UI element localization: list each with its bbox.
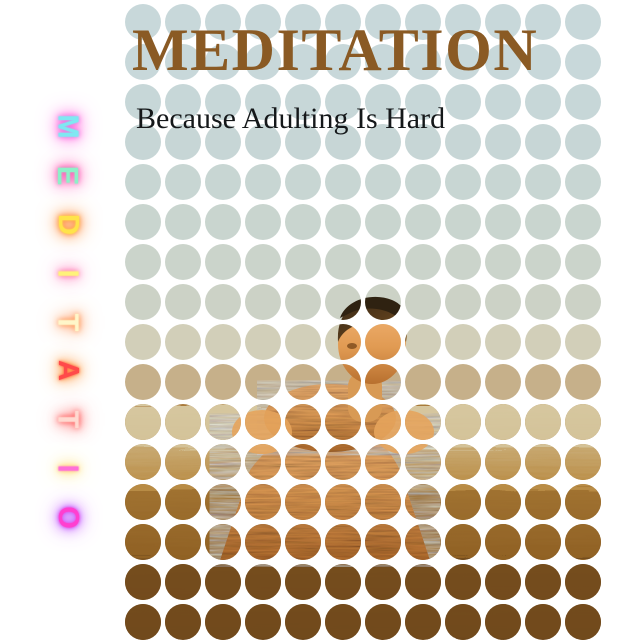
halftone-dot <box>125 564 161 600</box>
halftone-dot <box>485 404 521 440</box>
halftone-dot <box>405 364 441 400</box>
halftone-dot <box>285 204 321 240</box>
halftone-dot <box>365 564 401 600</box>
halftone-dot <box>525 404 561 440</box>
halftone-dot <box>285 324 321 360</box>
halftone-dot <box>245 244 281 280</box>
halftone-dot <box>125 404 161 440</box>
halftone-dot <box>205 484 241 520</box>
halftone-dot <box>405 444 441 480</box>
neon-letter-3: I <box>53 269 82 277</box>
halftone-dot <box>325 444 361 480</box>
halftone-dot <box>245 404 281 440</box>
neon-letter-2: D <box>52 214 81 235</box>
halftone-dot <box>565 244 601 280</box>
halftone-dot <box>365 484 401 520</box>
halftone-dot <box>365 324 401 360</box>
halftone-dot <box>165 404 201 440</box>
halftone-dot <box>245 364 281 400</box>
halftone-dot <box>565 364 601 400</box>
halftone-dot <box>525 244 561 280</box>
neon-letter-7: I <box>53 465 82 473</box>
page-title: MEDITATION <box>132 20 602 80</box>
halftone-dot <box>445 284 481 320</box>
neon-letter-0: M <box>52 114 81 138</box>
halftone-dot <box>525 524 561 560</box>
halftone-dot <box>285 524 321 560</box>
halftone-dot <box>325 364 361 400</box>
halftone-dot <box>565 604 601 640</box>
halftone-dot <box>445 324 481 360</box>
halftone-dot <box>325 604 361 640</box>
halftone-dot <box>365 164 401 200</box>
halftone-dot <box>165 564 201 600</box>
neon-letter-8: O <box>53 506 82 529</box>
halftone-dot <box>405 204 441 240</box>
halftone-dot <box>245 524 281 560</box>
halftone-dot <box>165 324 201 360</box>
halftone-dot <box>365 284 401 320</box>
halftone-dot <box>205 164 241 200</box>
halftone-dot <box>365 364 401 400</box>
halftone-dot <box>325 404 361 440</box>
halftone-dot <box>445 244 481 280</box>
halftone-dot <box>325 284 361 320</box>
halftone-dot <box>125 364 161 400</box>
halftone-dot <box>205 524 241 560</box>
halftone-dot <box>205 244 241 280</box>
halftone-dot <box>205 404 241 440</box>
halftone-dot <box>245 444 281 480</box>
halftone-dot <box>445 404 481 440</box>
halftone-dot <box>485 324 521 360</box>
halftone-dot <box>525 604 561 640</box>
halftone-dot <box>205 204 241 240</box>
halftone-dot <box>325 324 361 360</box>
halftone-dot <box>285 564 321 600</box>
halftone-dot <box>525 204 561 240</box>
halftone-dot <box>125 484 161 520</box>
halftone-dot <box>125 204 161 240</box>
neon-letter-5: A <box>52 360 81 381</box>
halftone-dot <box>525 484 561 520</box>
halftone-dot <box>245 324 281 360</box>
halftone-dot <box>525 284 561 320</box>
halftone-dot <box>245 284 281 320</box>
neon-letter-1: E <box>53 166 82 185</box>
halftone-dot <box>565 404 601 440</box>
halftone-dot <box>325 204 361 240</box>
halftone-dot <box>125 604 161 640</box>
page-subtitle: Because Adulting Is Hard <box>136 104 602 134</box>
halftone-dot <box>485 364 521 400</box>
halftone-dot <box>285 244 321 280</box>
halftone-dot <box>405 564 441 600</box>
halftone-dot <box>285 284 321 320</box>
halftone-dot <box>365 524 401 560</box>
halftone-dot <box>485 284 521 320</box>
halftone-dot <box>325 484 361 520</box>
halftone-dot <box>245 484 281 520</box>
neon-letter-4: T <box>53 313 82 331</box>
halftone-dot <box>485 564 521 600</box>
halftone-dot <box>165 284 201 320</box>
book-cover: MEDITATION Because Adulting Is Hard MEDI… <box>0 0 640 640</box>
halftone-dot <box>205 604 241 640</box>
halftone-dot <box>525 564 561 600</box>
halftone-dot <box>285 164 321 200</box>
halftone-dot <box>165 204 201 240</box>
halftone-dot <box>485 604 521 640</box>
halftone-dot <box>525 164 561 200</box>
neon-vertical-word: MEDITATIO <box>36 112 98 532</box>
halftone-dot <box>205 324 241 360</box>
halftone-dot <box>165 364 201 400</box>
halftone-dot <box>485 524 521 560</box>
halftone-dot <box>325 564 361 600</box>
halftone-dot <box>125 524 161 560</box>
halftone-dot <box>125 324 161 360</box>
halftone-dot <box>405 164 441 200</box>
halftone-dot <box>405 604 441 640</box>
halftone-dot <box>565 204 601 240</box>
halftone-dot <box>405 284 441 320</box>
halftone-dot <box>365 204 401 240</box>
halftone-dot <box>245 164 281 200</box>
halftone-dot <box>205 284 241 320</box>
neon-letter-6: T <box>53 411 82 429</box>
halftone-dot <box>445 164 481 200</box>
halftone-dot <box>285 444 321 480</box>
halftone-dot <box>285 364 321 400</box>
halftone-dot <box>245 204 281 240</box>
halftone-dot <box>365 604 401 640</box>
halftone-dot <box>445 484 481 520</box>
halftone-dot <box>525 444 561 480</box>
halftone-dot <box>445 444 481 480</box>
halftone-dot <box>165 604 201 640</box>
halftone-dot <box>205 364 241 400</box>
halftone-dot <box>565 484 601 520</box>
halftone-dot <box>565 444 601 480</box>
halftone-dot <box>445 524 481 560</box>
halftone-dot <box>245 564 281 600</box>
halftone-dot <box>125 284 161 320</box>
halftone-dot <box>165 484 201 520</box>
halftone-dot <box>285 404 321 440</box>
halftone-dot <box>565 524 601 560</box>
halftone-dot <box>165 524 201 560</box>
halftone-dot <box>525 324 561 360</box>
halftone-dot <box>365 444 401 480</box>
halftone-dot <box>365 404 401 440</box>
halftone-dot <box>405 524 441 560</box>
halftone-dot <box>245 604 281 640</box>
halftone-dot <box>125 164 161 200</box>
halftone-dot <box>565 324 601 360</box>
halftone-dot <box>485 164 521 200</box>
halftone-dot <box>125 444 161 480</box>
halftone-dot <box>365 244 401 280</box>
halftone-dot <box>565 564 601 600</box>
halftone-dot <box>565 164 601 200</box>
halftone-dot <box>525 364 561 400</box>
halftone-dot <box>565 284 601 320</box>
halftone-dot <box>485 444 521 480</box>
halftone-dot <box>485 244 521 280</box>
halftone-dot <box>125 244 161 280</box>
halftone-dot <box>285 604 321 640</box>
halftone-dot <box>445 564 481 600</box>
halftone-dot <box>205 444 241 480</box>
halftone-dot <box>405 484 441 520</box>
halftone-dot <box>405 324 441 360</box>
halftone-dot <box>165 164 201 200</box>
halftone-dot <box>485 484 521 520</box>
halftone-dot <box>445 204 481 240</box>
halftone-dot <box>405 404 441 440</box>
halftone-dot <box>165 444 201 480</box>
halftone-dot <box>205 564 241 600</box>
halftone-dot <box>405 244 441 280</box>
halftone-dot <box>325 524 361 560</box>
halftone-dot <box>325 244 361 280</box>
halftone-dot <box>325 164 361 200</box>
halftone-dot <box>445 364 481 400</box>
title-block: MEDITATION Because Adulting Is Hard <box>132 20 602 134</box>
halftone-dot <box>285 484 321 520</box>
halftone-dot <box>445 604 481 640</box>
halftone-dot <box>485 204 521 240</box>
halftone-dot <box>165 244 201 280</box>
